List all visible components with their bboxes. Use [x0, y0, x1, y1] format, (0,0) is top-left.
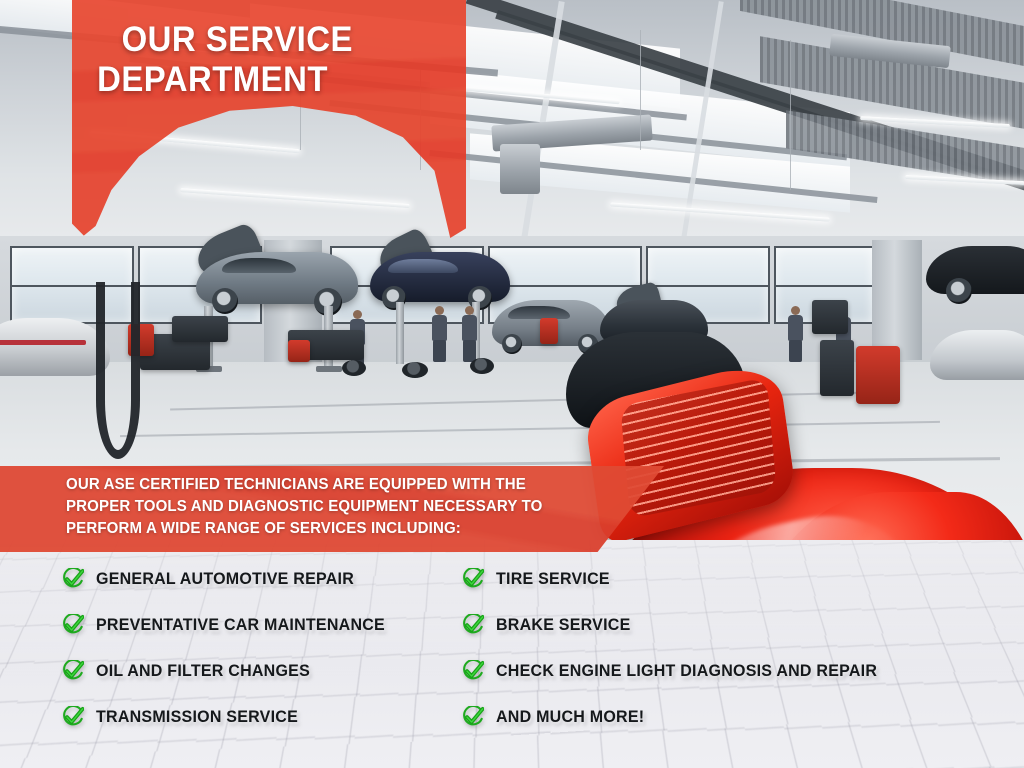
red-tool-chest [540, 318, 558, 344]
page-title-line-1: OUR SERVICE [84, 20, 441, 60]
lift-base [316, 366, 342, 372]
list-item: CHECK ENGINE LIGHT DIAGNOSIS AND REPAIR [462, 648, 1007, 694]
mechanic-head [353, 310, 362, 319]
list-item: BRAKE SERVICE [462, 602, 1007, 648]
services-checklist: GENERAL AUTOMOTIVE REPAIR PREVENTATIVE C… [0, 556, 1024, 736]
wall-pillar [872, 240, 922, 360]
list-item: TRANSMISSION SERVICE [62, 694, 482, 740]
vehicle-stripe [0, 340, 86, 345]
service-label: OIL AND FILTER CHANGES [96, 662, 310, 681]
list-item: TIRE SERVICE [462, 556, 1007, 602]
vehicle-lift-post [396, 302, 404, 364]
service-label: CHECK ENGINE LIGHT DIAGNOSIS AND REPAIR [496, 662, 877, 681]
loose-tire [470, 358, 494, 374]
service-label: PREVENTATIVE CAR MAINTENANCE [96, 616, 385, 635]
list-item: GENERAL AUTOMOTIVE REPAIR [62, 556, 482, 602]
mechanic [788, 306, 804, 364]
list-item: OIL AND FILTER CHANGES [62, 648, 482, 694]
mechanic-head [791, 306, 800, 315]
mechanic-legs [789, 340, 802, 362]
service-label: GENERAL AUTOMOTIVE REPAIR [96, 570, 354, 589]
vehicle-window [388, 259, 458, 273]
mechanic-legs [433, 340, 446, 362]
mechanic-body [788, 315, 803, 341]
service-label: BRAKE SERVICE [496, 616, 630, 635]
services-column-left: GENERAL AUTOMOTIVE REPAIR PREVENTATIVE C… [62, 556, 482, 740]
ceiling-light [180, 188, 410, 208]
green-check-icon [462, 660, 484, 682]
ceiling-hanger [640, 30, 641, 150]
ceiling-hanger [790, 40, 791, 190]
green-check-icon [462, 568, 484, 590]
vehicle-wheel [502, 334, 522, 354]
page-title: OUR SERVICE DEPARTMENT [84, 20, 441, 100]
service-department-poster: EB 20 UAJ OUR SERVICE DEPARTMENT [0, 0, 1024, 768]
hose-reel [96, 282, 140, 459]
vehicle-window [222, 258, 296, 273]
engine-lid-vents [620, 377, 776, 518]
mechanic-head [465, 306, 474, 315]
service-label: AND MUCH MORE! [496, 708, 644, 727]
mechanic-body [462, 315, 477, 341]
loose-tire [402, 362, 428, 378]
intro-line-2: PROPER TOOLS AND DIAGNOSTIC EQUIPMENT NE… [66, 496, 595, 518]
green-check-icon [62, 614, 84, 636]
vehicle-window [508, 306, 570, 319]
vehicle-wheel [946, 278, 972, 304]
mechanic-head [435, 306, 444, 315]
intro-paragraph: OUR ASE CERTIFIED TECHNICIANS ARE EQUIPP… [66, 474, 595, 540]
service-label: TIRE SERVICE [496, 570, 610, 589]
intro-line-1: OUR ASE CERTIFIED TECHNICIANS ARE EQUIPP… [66, 474, 595, 496]
mechanic-body [432, 315, 447, 341]
air-duct-drop [500, 144, 540, 194]
loose-tire [342, 360, 366, 376]
green-check-icon [62, 568, 84, 590]
green-check-icon [462, 706, 484, 728]
red-tool-chest [288, 340, 310, 362]
service-label: TRANSMISSION SERVICE [96, 708, 298, 727]
equipment-box [812, 300, 848, 334]
mechanic [432, 306, 448, 368]
green-check-icon [62, 660, 84, 682]
page-title-line-2: DEPARTMENT [84, 60, 441, 100]
list-item: PREVENTATIVE CAR MAINTENANCE [62, 602, 482, 648]
services-column-right: TIRE SERVICE BRAKE SERVICE [462, 556, 1007, 740]
workbench [172, 316, 228, 342]
vehicle-wheel [212, 288, 238, 314]
intro-line-3: PERFORM A WIDE RANGE OF SERVICES INCLUDI… [66, 518, 595, 540]
green-check-icon [462, 614, 484, 636]
green-check-icon [62, 706, 84, 728]
list-item: AND MUCH MORE! [462, 694, 1007, 740]
